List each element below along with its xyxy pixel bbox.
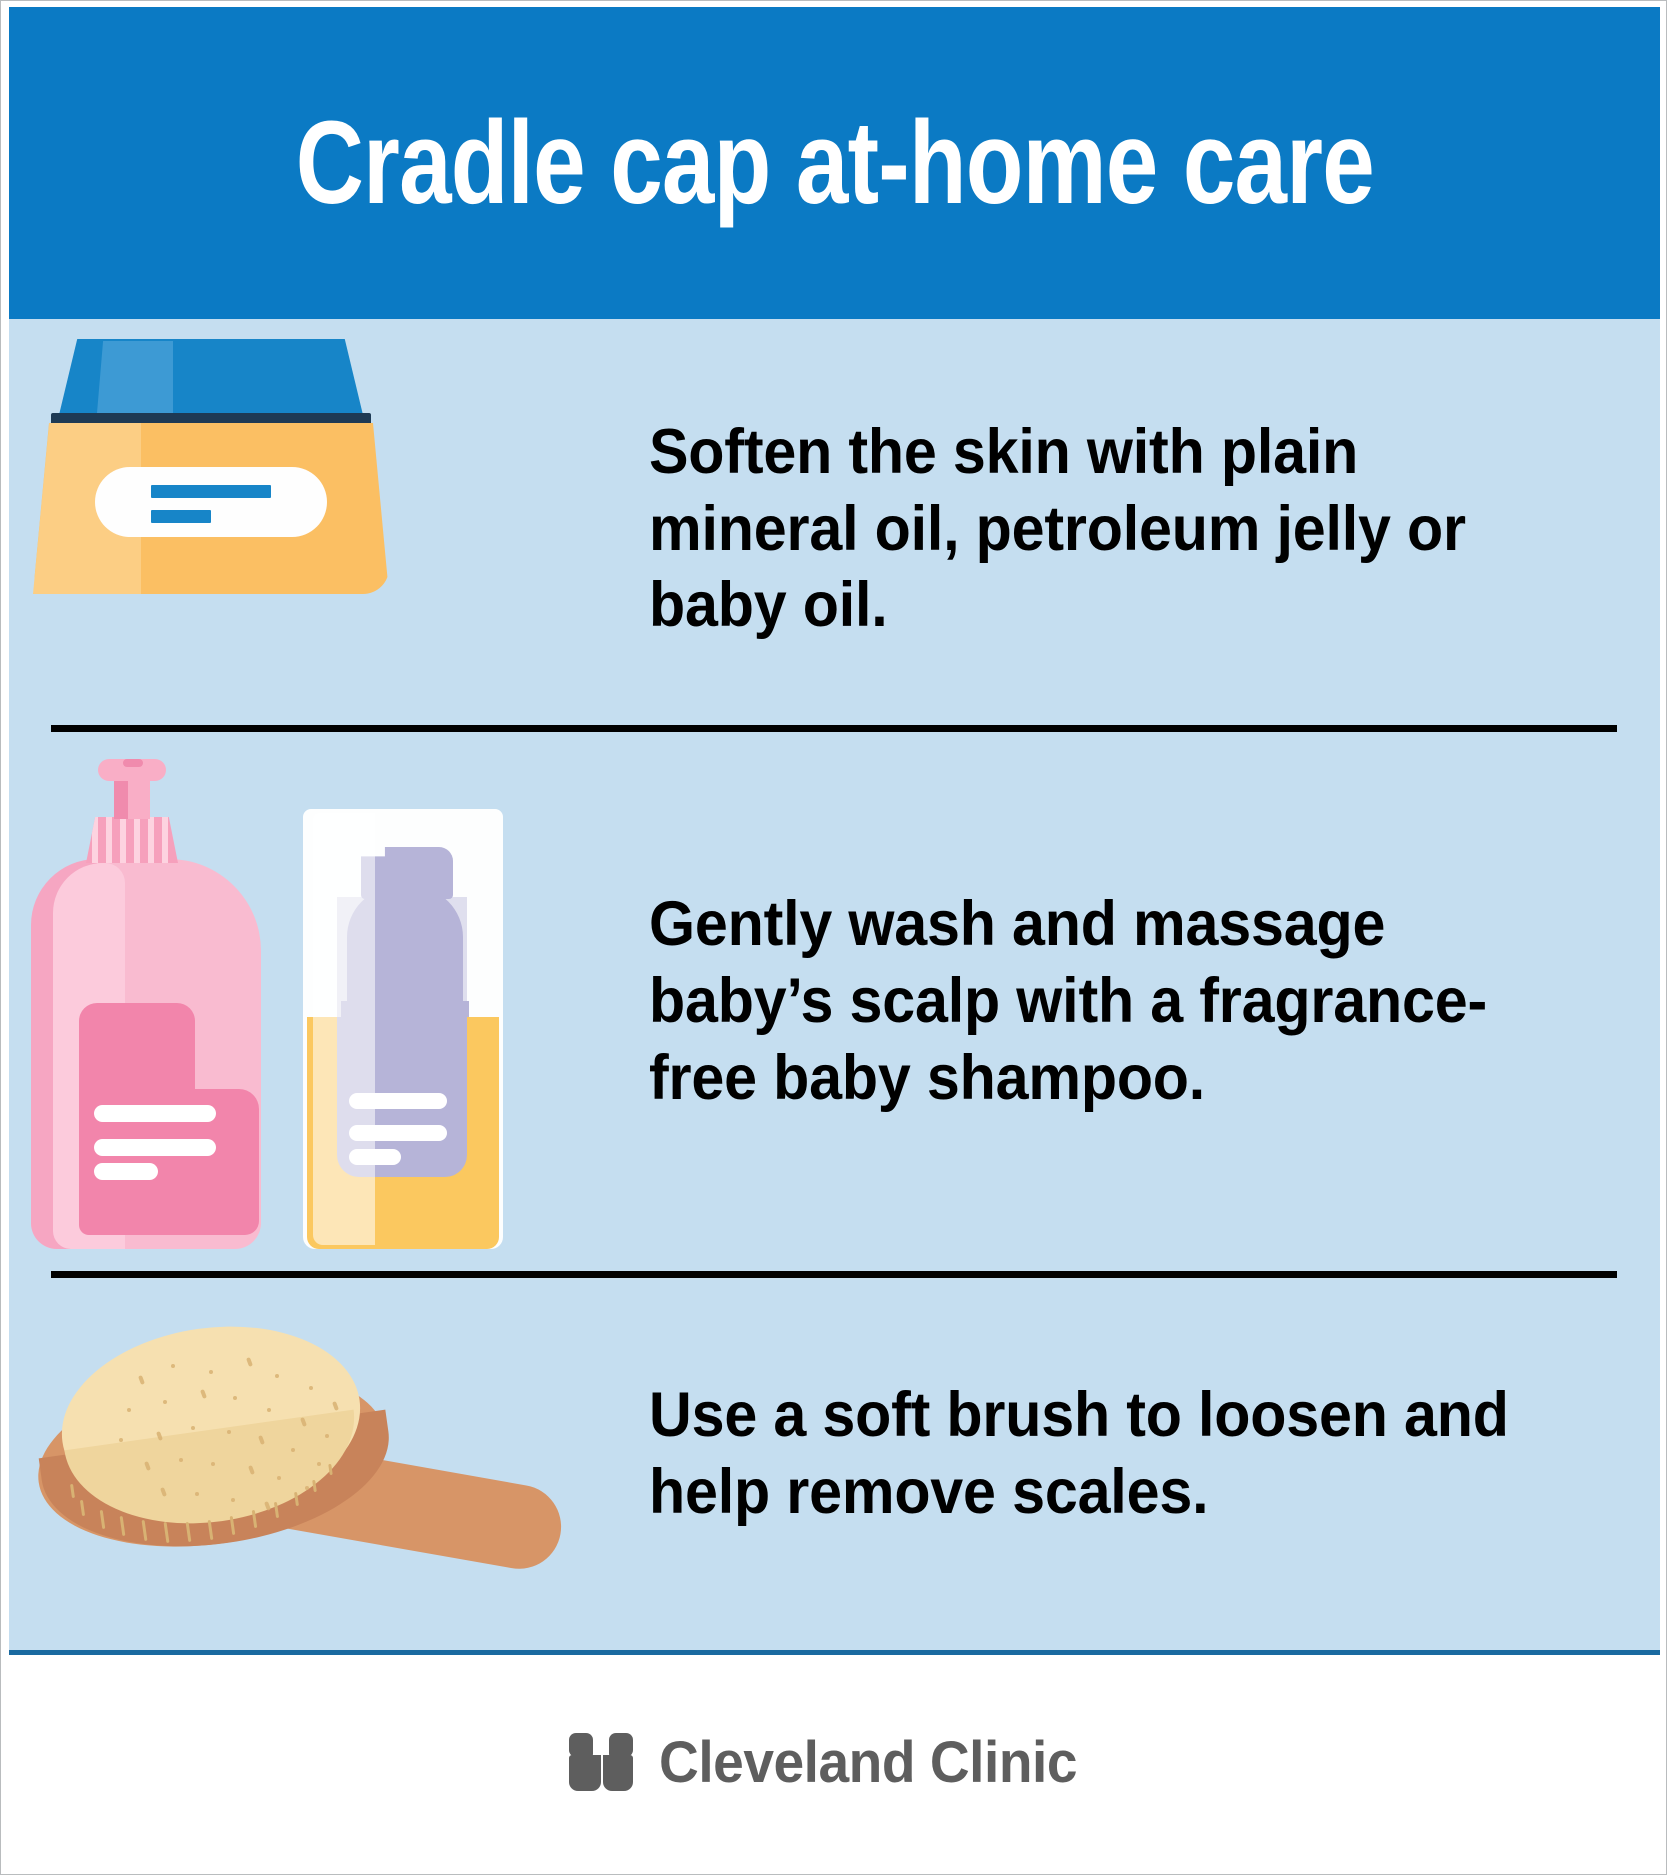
logo-square-bottom-right [603,1755,633,1791]
brush-speck [163,1400,167,1404]
page-title: Cradle cap at-home care [295,104,1373,222]
pink-shampoo-bottle [31,759,261,1249]
label-text-line [94,1139,216,1156]
footer: Cleveland Clinic [9,1655,1660,1869]
brush-speck [275,1374,279,1378]
care-step-row-wash: Gently wash and massage baby’s scalp wit… [9,739,1660,1264]
baby-shampoo-bottles-icon [9,739,649,1264]
label-text-line [94,1105,216,1122]
brush-speck [209,1370,213,1374]
bottles-illustration [31,759,501,1249]
cradle-cap-infographic: Cradle cap at-home care Soften the skin … [0,0,1667,1875]
brush-speck [317,1462,321,1466]
section-divider [51,725,1617,732]
brush-speck [291,1448,295,1452]
jar-illustration [21,339,401,594]
brush-speck [309,1386,313,1390]
logo-square-top-right [609,1733,633,1757]
petroleum-jelly-jar-icon [9,329,649,729]
care-step-row-brush: Use a soft brush to loosen and help remo… [9,1274,1660,1634]
label-text-line [94,1163,158,1180]
brush-speck [305,1486,309,1490]
brush-speck [233,1396,237,1400]
brush-speck [211,1462,215,1466]
soft-baby-brush-icon [9,1274,649,1634]
brush-speck [191,1426,195,1430]
brush-speck [119,1438,123,1442]
brush-speck [231,1498,235,1502]
cleveland-clinic-logo: Cleveland Clinic [569,1729,1099,1796]
cleveland-clinic-logo-mark [569,1733,633,1791]
content-panel: Soften the skin with plain mineral oil, … [9,319,1660,1650]
header-banner: Cradle cap at-home care [9,7,1660,319]
brush-speck [277,1476,281,1480]
bottle-cap-neck-shade [114,779,128,819]
care-step-text-soften: Soften the skin with plain mineral oil, … [649,414,1599,645]
bottle-cap-nozzle [123,759,143,767]
pump-lotion-bottle [303,809,503,1249]
brush-speck [179,1458,183,1462]
label-text-line [349,1093,447,1109]
brush-speck [127,1408,131,1412]
care-step-text-brush: Use a soft brush to loosen and help remo… [649,1377,1599,1531]
logo-square-top-left [569,1733,593,1757]
care-step-text-wash: Gently wash and massage baby’s scalp wit… [649,886,1599,1117]
care-step-row-soften: Soften the skin with plain mineral oil, … [9,329,1660,729]
label-text-line [349,1125,447,1141]
jar-label-bar [151,510,211,523]
pump-glass-highlight [313,813,375,1245]
brush-illustration [29,1314,589,1564]
logo-square-bottom-left [569,1755,601,1791]
cleveland-clinic-wordmark: Cleveland Clinic [659,1729,1077,1796]
brush-speck [227,1430,231,1434]
jar-lid-highlight [97,341,173,413]
brush-speck [195,1492,199,1496]
jar-label [95,467,327,537]
brush-speck [171,1364,175,1368]
brush-speck [267,1408,271,1412]
jar-label-bar [151,485,271,498]
brush-speck [325,1434,329,1438]
label-text-line [349,1149,401,1165]
bottle-ribbed-collar [86,817,178,863]
